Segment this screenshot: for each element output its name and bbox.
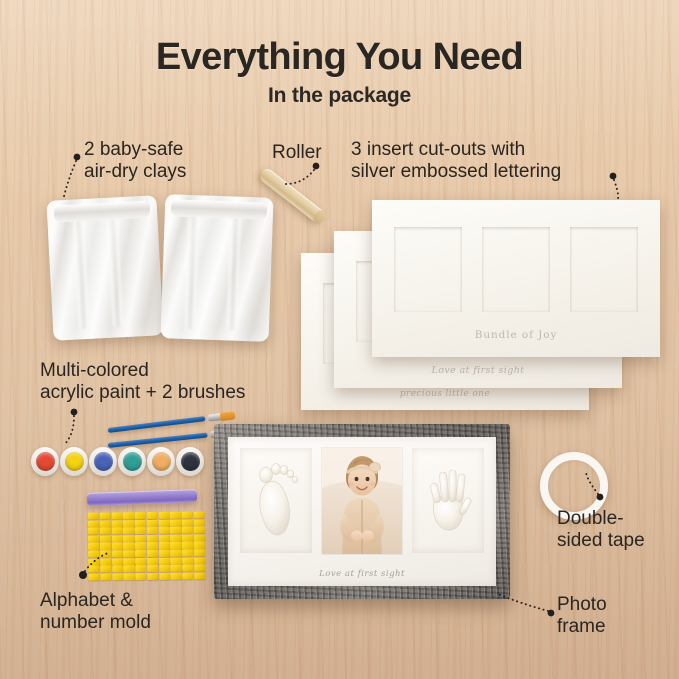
mold-cell — [100, 543, 111, 550]
paint-color-swatch — [36, 452, 55, 471]
mold-cell — [182, 542, 193, 549]
mold-cell — [146, 512, 157, 519]
mold-cell — [182, 512, 193, 519]
insert-window — [570, 227, 638, 312]
mold-cell — [147, 535, 158, 542]
mold-cell — [123, 512, 134, 519]
callout-label-tape: Double- sided tape — [557, 508, 645, 553]
mold-cell — [170, 565, 181, 572]
mold-cell — [100, 535, 111, 542]
mold-cell — [159, 573, 170, 580]
mold-cell — [194, 542, 205, 549]
mold-cell — [170, 542, 181, 549]
frame-mat: Love at first sight — [228, 437, 496, 586]
mold-cell — [194, 534, 205, 541]
mold-cell — [135, 558, 146, 565]
paint-color-swatch — [181, 452, 200, 471]
mold-cell — [88, 528, 99, 535]
mold-cell — [147, 573, 158, 580]
mold-cell — [147, 565, 158, 572]
insert-cutout-1: Bundle of Joy — [372, 200, 660, 357]
paint-color-swatch — [123, 452, 142, 471]
paint-brush-1 — [108, 416, 206, 433]
mold-cell — [182, 565, 193, 572]
paint-pot-blue — [89, 447, 117, 476]
mold-cell — [182, 572, 193, 579]
mold-cell — [170, 519, 181, 526]
mold-cell — [111, 543, 122, 550]
mold-cell — [193, 511, 204, 518]
mold-cell — [171, 573, 182, 580]
mold-cell — [194, 549, 205, 556]
footprint-panel — [240, 448, 312, 553]
mold-cell — [159, 557, 170, 564]
paint-brush-2 — [108, 433, 208, 448]
mold-cell — [135, 573, 146, 580]
leader-dot-inserts — [610, 173, 617, 180]
mold-cell — [100, 566, 111, 573]
mold-cell — [147, 550, 158, 557]
mold-cell — [182, 527, 193, 534]
mold-cell — [170, 534, 181, 541]
leader-dot-paint — [71, 409, 78, 416]
mold-cell — [112, 558, 123, 565]
mold-cell — [100, 550, 111, 557]
mold-cell — [111, 520, 122, 527]
mold-cell — [158, 535, 169, 542]
mold-cell — [112, 573, 123, 580]
callout-label-photo-frame: Photo frame — [557, 594, 607, 639]
mold-cell — [123, 558, 134, 565]
mold-cell — [112, 550, 123, 557]
paint-pot-teal — [118, 447, 146, 476]
alphabet-number-mold — [88, 511, 206, 580]
mold-cell — [158, 542, 169, 549]
mold-cell — [159, 565, 170, 572]
mold-cell — [123, 543, 134, 550]
mold-cell — [135, 520, 146, 527]
mold-cell — [194, 572, 205, 579]
mold-cell — [135, 535, 146, 542]
mold-cell — [123, 550, 134, 557]
mold-cell — [158, 527, 169, 534]
mold-cell — [111, 527, 122, 534]
callout-label-paint: Multi-colored acrylic paint + 2 brushes — [40, 360, 245, 405]
mold-cell — [100, 573, 111, 580]
mold-cell — [135, 512, 146, 519]
mold-cell — [182, 550, 193, 557]
clay-pouch-2 — [161, 194, 274, 342]
insert-window — [394, 227, 462, 312]
mold-cell — [123, 535, 134, 542]
paint-color-swatch — [94, 452, 113, 471]
mold-cell — [170, 550, 181, 557]
paint-pot-black — [176, 447, 204, 476]
mold-cell — [182, 557, 193, 564]
paint-pot-yellow — [60, 447, 88, 476]
page-subtitle: In the package — [0, 84, 679, 108]
mold-cell — [135, 565, 146, 572]
mold-cell — [135, 542, 146, 549]
mold-cell — [170, 512, 181, 519]
insert-lettering-2: Love at first sight — [334, 365, 622, 376]
footprint-icon — [253, 459, 299, 543]
mold-cell — [158, 512, 169, 519]
mold-cell — [182, 519, 193, 526]
paint-pot-orange — [147, 447, 175, 476]
mold-cell — [147, 558, 158, 565]
mold-cell — [99, 520, 110, 527]
mold-cell — [88, 520, 99, 527]
paint-pot-red — [31, 447, 59, 476]
frame-lettering: Love at first sight — [228, 569, 496, 579]
mold-cell — [135, 527, 146, 534]
mold-cell — [88, 558, 99, 565]
paint-color-swatch — [152, 452, 171, 471]
baby-photo-illustration — [322, 448, 402, 554]
leader-dot-clays — [74, 154, 81, 161]
mold-cell — [88, 543, 99, 550]
page-title: Everything You Need — [0, 36, 679, 79]
mold-cell — [135, 550, 146, 557]
product-infographic: Everything You Need In the package preci… — [0, 0, 679, 679]
mold-cell — [88, 566, 99, 573]
insert-window — [482, 227, 550, 312]
mold-cell — [170, 557, 181, 564]
mold-cell — [112, 566, 123, 573]
mold-cell — [170, 527, 181, 534]
mold-holder-bar — [87, 489, 197, 506]
mold-cell — [182, 534, 193, 541]
mold-cell — [124, 573, 135, 580]
mold-cell — [123, 565, 134, 572]
leader-dot-frame — [548, 610, 555, 617]
mold-cell — [99, 512, 110, 519]
callout-label-inserts: 3 insert cut-outs with silver embossed l… — [351, 139, 561, 184]
insert-lettering-1: Bundle of Joy — [372, 329, 660, 341]
mold-cell — [88, 573, 99, 580]
mold-cell — [88, 551, 99, 558]
mold-cell — [194, 527, 205, 534]
baby-photo — [322, 448, 402, 554]
mold-cell — [158, 519, 169, 526]
insert-lettering-3: precious little one — [301, 389, 589, 399]
leader-dot-alphabet — [79, 571, 87, 579]
mold-cell — [100, 528, 111, 535]
mold-cell — [111, 535, 122, 542]
handprint-icon — [424, 465, 472, 537]
callout-label-clays: 2 baby-safe air-dry clays — [84, 139, 186, 184]
mold-cell — [146, 519, 157, 526]
mold-cell — [147, 527, 158, 534]
photo-frame: Love at first sight — [214, 424, 510, 599]
acrylic-paint-set — [31, 447, 205, 476]
mold-cell — [100, 558, 111, 565]
mold-cell — [147, 542, 158, 549]
paint-color-swatch — [65, 452, 84, 471]
callout-label-roller: Roller — [272, 142, 322, 164]
clay-pouch-1 — [46, 195, 163, 341]
mold-cell — [111, 512, 122, 519]
mold-cell — [193, 519, 204, 526]
handprint-panel — [412, 448, 484, 553]
mold-cell — [159, 550, 170, 557]
mold-cell — [123, 527, 134, 534]
mold-cell — [88, 512, 99, 519]
mold-cell — [123, 520, 134, 527]
mold-cell — [194, 565, 205, 572]
callout-label-alphabet-mold: Alphabet & number mold — [40, 590, 151, 635]
mold-cell — [194, 557, 205, 564]
mold-cell — [88, 535, 99, 542]
